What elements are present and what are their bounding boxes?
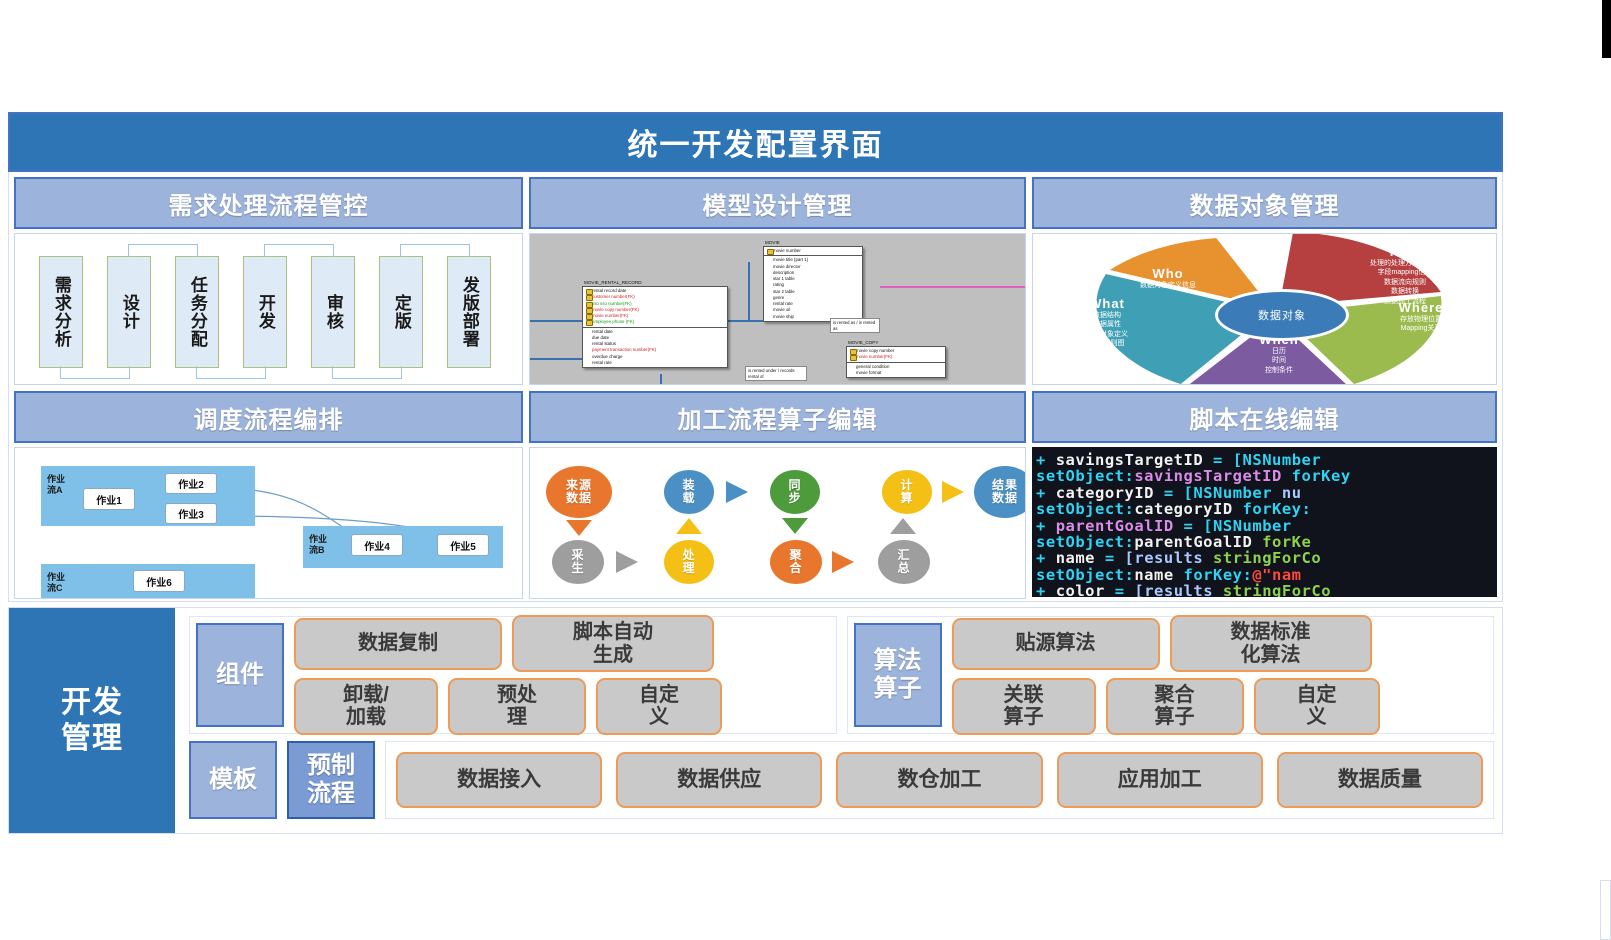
er-field: movie format (849, 370, 943, 376)
er-field: rental rate (585, 360, 725, 366)
er-field: movie number(FK) (849, 354, 943, 360)
er-relationship-note-top: is rented as / is rented as (830, 318, 880, 333)
panel-operator: 加工流程算子编辑 来源 数据 装 载 同 步 计 算 结果 数据 采 生 处 理… (529, 391, 1026, 599)
pill-custom-algorithm[interactable]: 自定 义 (1254, 678, 1380, 735)
er-field: movie number (766, 248, 860, 254)
section-header-requirement-label: 需求处理流程管控 (169, 186, 369, 221)
flow-step-3[interactable]: 任务分配 (175, 256, 219, 368)
code-line: + name = [results stringForCo (1036, 550, 1497, 566)
job-node-1[interactable]: 作业1 (83, 488, 135, 510)
er-entity-movie-rental-record[interactable]: MOVIE_RENTAL_RECORD rental record date c… (582, 286, 728, 368)
upper-grid: 需求处理流程管控 需求分析 设计 任务分配 开发 审核 定版 发版部署 (8, 172, 1503, 602)
code-line: + parentGoalID = [NSNumber (1036, 518, 1497, 534)
pill-join-operator[interactable]: 关联 算子 (952, 678, 1096, 735)
component-pills: 数据复制 脚本自动 生成 卸载/ 加载 预处 理 自定 义 (294, 623, 830, 727)
er-entity-attrs: rental date due date rental status payme… (583, 328, 727, 368)
dev-management-content: 组件 数据复制 脚本自动 生成 卸载/ 加载 预处 理 自定 义 (175, 608, 1502, 833)
right-edge-black-top (1602, 0, 1611, 58)
wheel-label-who: Who 数据对象定义信息 (1093, 266, 1243, 290)
section-header-dataobject-label: 数据对象管理 (1190, 186, 1340, 221)
section-header-requirement[interactable]: 需求处理流程管控 (14, 177, 523, 229)
er-link-left-2 (530, 358, 582, 360)
code-line: + categoryID = [NSNumber nu (1036, 485, 1497, 501)
er-entity-title: MOVIE_RENTAL_RECORD (584, 280, 642, 287)
job-group-c-label: 作业 流C (47, 572, 65, 594)
algorithm-pill-row-2: 关联 算子 聚合 算子 自定 义 (952, 678, 1488, 735)
component-box: 组件 数据复制 脚本自动 生成 卸载/ 加载 预处 理 自定 义 (189, 616, 837, 734)
job-group-b-label: 作业 流B (309, 534, 327, 556)
section-header-model-label: 模型设计管理 (703, 186, 853, 221)
er-link-pink (880, 286, 1026, 288)
section-header-dataobject[interactable]: 数据对象管理 (1032, 177, 1497, 229)
arrow-sync-down-icon (782, 518, 808, 534)
section-header-operator-label: 加工流程算子编辑 (678, 400, 878, 435)
er-field: employee phone (FK) (585, 319, 725, 325)
algorithm-box: 算法 算子 贴源算法 数据标准 化算法 关联 算子 聚合 算子 自定 义 (847, 616, 1495, 734)
code-line: setObject:name forKey:@"nam (1036, 567, 1497, 583)
flow-step-5[interactable]: 审核 (311, 256, 355, 368)
section-header-script[interactable]: 脚本在线编辑 (1032, 391, 1497, 443)
component-pill-row-1: 数据复制 脚本自动 生成 (294, 615, 830, 672)
flow-connector-1 (60, 366, 130, 379)
pill-data-ingest[interactable]: 数据接入 (396, 752, 602, 808)
job-node-5[interactable]: 作业5 (437, 534, 489, 556)
dev-row-component-algorithm: 组件 数据复制 脚本自动 生成 卸载/ 加载 预处 理 自定 义 (189, 616, 1494, 734)
algorithm-pill-row-1: 贴源算法 数据标准 化算法 (952, 615, 1488, 672)
panel-model: 模型设计管理 MOVIE_RENTAL_RECORD rental record… (529, 177, 1026, 385)
wheel-label-what: What 数据结构 数据属性 数据对象定义 质量规则图 (1049, 296, 1165, 349)
category-component-label: 组件 (216, 661, 264, 689)
operator-node-collect[interactable]: 采 生 (552, 540, 604, 584)
arrow-process-up-icon (676, 518, 702, 534)
code-line: + savingsTargetID = [NSNumber (1036, 452, 1497, 468)
flow-connector-3 (196, 366, 266, 379)
section-header-operator[interactable]: 加工流程算子编辑 (529, 391, 1026, 443)
data-object-wheel-panel: Who 数据对象定义信息 What 数据结构 数据属性 数据对象定义 质量规则图… (1032, 233, 1497, 385)
arrow-aggregate-to-summary-icon (832, 551, 854, 573)
code-editor[interactable]: + savingsTargetID = [NSNumber setObject:… (1032, 447, 1497, 597)
job-group-a[interactable]: 作业 流A (41, 466, 255, 526)
dev-management-title: 开发 管理 (61, 685, 123, 756)
section-header-script-label: 脚本在线编辑 (1190, 400, 1340, 435)
er-link-v1 (748, 262, 750, 320)
pill-source-algorithm[interactable]: 贴源算法 (952, 618, 1160, 670)
operator-node-sync[interactable]: 同 步 (770, 470, 820, 514)
requirement-flow: 需求分析 设计 任务分配 开发 审核 定版 发版部署 (15, 234, 522, 384)
flow-connector-2 (128, 244, 198, 257)
er-link-left-1 (530, 320, 590, 322)
panel-script: 脚本在线编辑 + savingsTargetID = [NSNumber set… (1032, 391, 1497, 599)
arrow-load-to-sync-icon (726, 481, 748, 503)
arrow-compute-to-result-icon (942, 481, 964, 503)
pill-warehouse-processing[interactable]: 数仓加工 (836, 752, 1042, 808)
arrow-collect-to-process-icon (616, 551, 638, 573)
job-group-a-label: 作业 流A (47, 474, 65, 496)
code-line: + color = [results stringForCo (1036, 583, 1497, 597)
panel-requirement: 需求处理流程管控 需求分析 设计 任务分配 开发 审核 定版 发版部署 (14, 177, 523, 385)
component-pill-row-2: 卸载/ 加载 预处 理 自定 义 (294, 678, 830, 735)
section-header-schedule[interactable]: 调度流程编排 (14, 391, 523, 443)
pill-standardization-algorithm[interactable]: 数据标准 化算法 (1170, 615, 1372, 672)
job-schedule-panel: 作业 流A 作业1 作业2 作业3 作业 流B 作业4 作业5 作业 流C 作业… (14, 447, 523, 599)
arrow-summary-up-icon (890, 518, 916, 534)
operator-node-summary[interactable]: 汇 总 (878, 540, 930, 584)
category-template-label: 模板 (209, 766, 257, 794)
template-pills: 数据接入 数据供应 数仓加工 应用加工 数据质量 (385, 741, 1494, 819)
flow-step-6[interactable]: 定版 (379, 256, 423, 368)
er-entity-keys: movie number (764, 247, 862, 256)
pill-application-processing[interactable]: 应用加工 (1057, 752, 1263, 808)
flow-connector-5 (332, 366, 402, 379)
er-link-down (660, 374, 662, 385)
section-header-schedule-label: 调度流程编排 (194, 400, 344, 435)
er-relationship-note-bottom: is rented under / records rental of (745, 366, 807, 381)
operator-node-compute[interactable]: 计 算 (882, 470, 932, 514)
er-entity-keys: movie copy number movie number(FK) (847, 347, 945, 363)
flow-step-7[interactable]: 发版部署 (447, 256, 491, 368)
operator-flow-panel: 来源 数据 装 载 同 步 计 算 结果 数据 采 生 处 理 聚 合 汇 总 (529, 447, 1026, 599)
panel-dataobject: 数据对象管理 (1032, 177, 1497, 385)
arrow-source-down-icon (566, 520, 592, 536)
flow-step-4[interactable]: 开发 (243, 256, 287, 368)
wheel-label-how: How 处理的处理方式及方法 字段mapping信息 数据流向规则 数据转换 数… (1325, 244, 1485, 306)
flow-step-2[interactable]: 设计 (107, 256, 151, 368)
er-entity-attrs: movie title (part 1) movie director desc… (764, 256, 862, 321)
category-preset-flow-label: 预制 流程 (307, 752, 355, 807)
operator-node-load[interactable]: 装 载 (664, 470, 714, 514)
er-entity-keys: rental record date customer number(FK) s… (583, 287, 727, 328)
code-line: setObject:parentGoalID forKe (1036, 534, 1497, 550)
job-node-3[interactable]: 作业3 (165, 503, 217, 524)
section-header-model[interactable]: 模型设计管理 (529, 177, 1026, 229)
pill-data-copy[interactable]: 数据复制 (294, 618, 502, 670)
dev-management-sidebar[interactable]: 开发 管理 (9, 608, 175, 833)
pill-script-autogen[interactable]: 脚本自动 生成 (512, 615, 714, 672)
er-entity-attrs: general condition movie format (847, 363, 945, 378)
operator-node-process[interactable]: 处 理 (664, 540, 714, 584)
job-node-6[interactable]: 作业6 (133, 570, 185, 592)
category-preset-flow[interactable]: 预制 流程 (287, 741, 375, 819)
dev-management-section: 开发 管理 组件 数据复制 脚本自动 生成 卸载/ 加载 预处 理 (8, 607, 1503, 834)
operator-node-aggregate[interactable]: 聚 合 (770, 540, 822, 584)
category-template[interactable]: 模板 (189, 741, 277, 819)
er-entity-title: MOVIE (765, 240, 780, 247)
algorithm-pills: 贴源算法 数据标准 化算法 关联 算子 聚合 算子 自定 义 (952, 623, 1488, 727)
operator-node-result[interactable]: 结果 数据 (974, 466, 1026, 518)
dev-row-template: 模板 预制 流程 数据接入 数据供应 数仓加工 应用加工 数据质量 (189, 741, 1494, 819)
er-entity-movie-copy[interactable]: MOVIE_COPY movie copy number movie numbe… (846, 346, 946, 378)
pill-preprocess[interactable]: 预处 理 (448, 678, 586, 735)
page-title: 统一开发配置界面 (628, 120, 884, 164)
data-object-wheel: Who 数据对象定义信息 What 数据结构 数据属性 数据对象定义 质量规则图… (1033, 234, 1496, 384)
pill-custom-component[interactable]: 自定 义 (596, 678, 722, 735)
pill-data-quality[interactable]: 数据质量 (1277, 752, 1483, 808)
category-algorithm-label: 算法 算子 (874, 647, 922, 702)
flow-connector-4 (264, 244, 334, 257)
code-editor-panel: + savingsTargetID = [NSNumber setObject:… (1032, 447, 1497, 597)
er-entity-title: MOVIE_COPY (848, 340, 878, 347)
er-entity-movie[interactable]: MOVIE movie number movie title (part 1) … (763, 246, 863, 322)
flow-connector-6 (400, 244, 470, 257)
panel-schedule: 调度流程编排 作业 流A 作业 (14, 391, 523, 599)
upper-row-1: 需求处理流程管控 需求分析 设计 任务分配 开发 审核 定版 发版部署 (14, 177, 1497, 385)
category-component[interactable]: 组件 (196, 623, 284, 727)
wheel-center-label: 数据对象 (1215, 289, 1349, 341)
operator-node-source[interactable]: 来源 数据 (546, 466, 612, 518)
diagram-canvas: 统一开发配置界面 需求处理流程管控 需求分析 设计 任务分配 开发 审核 定版 … (8, 112, 1503, 824)
code-line: setObject:categoryID forKey: (1036, 501, 1497, 517)
code-line: setObject:savingsTargetID forKey (1036, 468, 1497, 484)
page-title-bar: 统一开发配置界面 (8, 112, 1503, 172)
job-node-2[interactable]: 作业2 (165, 473, 217, 494)
pill-unload-load[interactable]: 卸载/ 加载 (294, 678, 438, 735)
category-algorithm[interactable]: 算法 算子 (854, 623, 942, 727)
er-model-panel: MOVIE_RENTAL_RECORD rental record date c… (529, 233, 1026, 385)
right-edge-black-bottom (1600, 880, 1611, 940)
flow-step-1[interactable]: 需求分析 (39, 256, 83, 368)
pill-aggregate-operator[interactable]: 聚合 算子 (1106, 678, 1244, 735)
upper-row-2: 调度流程编排 作业 流A 作业 (14, 391, 1497, 599)
job-node-4[interactable]: 作业4 (351, 534, 403, 556)
template-row: 模板 预制 流程 数据接入 数据供应 数仓加工 应用加工 数据质量 (189, 741, 1494, 819)
requirement-flow-panel: 需求分析 设计 任务分配 开发 审核 定版 发版部署 (14, 233, 523, 385)
pill-data-supply[interactable]: 数据供应 (616, 752, 822, 808)
